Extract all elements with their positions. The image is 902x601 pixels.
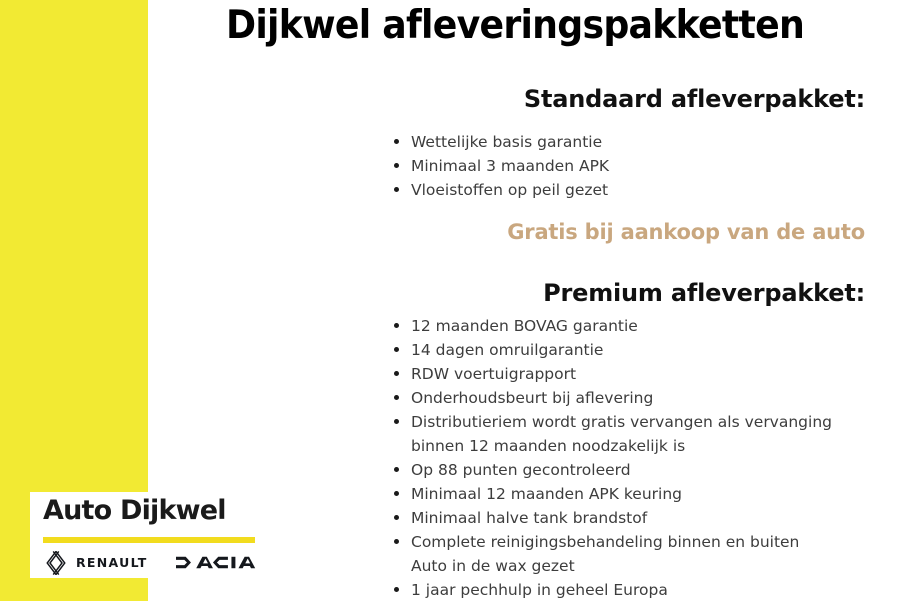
content-column: Dijkwel afleveringspakketten Standaard a… bbox=[165, 0, 865, 601]
standard-package-list: Wettelijke basis garantie Minimaal 3 maa… bbox=[394, 130, 874, 202]
dacia-wordmark bbox=[176, 554, 264, 571]
page-title: Dijkwel afleveringspakketten bbox=[190, 0, 841, 45]
premium-package-heading: Premium afleverpakket: bbox=[543, 279, 865, 307]
list-item: Distributieriem wordt gratis vervangen a… bbox=[394, 410, 874, 458]
renault-diamond-icon bbox=[45, 551, 67, 575]
logo-underline-bar bbox=[43, 537, 255, 543]
dealer-logo-card: Auto Dijkwel RENAULT bbox=[30, 492, 263, 578]
renault-wordmark: RENAULT bbox=[76, 555, 148, 570]
list-item-continuation: Auto in de wax gezet bbox=[411, 554, 874, 578]
dealer-name-wordmark: Auto Dijkwel bbox=[43, 495, 226, 526]
list-item: Minimaal halve tank brandstof bbox=[394, 506, 874, 530]
list-item: 14 dagen omruilgarantie bbox=[394, 338, 874, 362]
list-item: Complete reinigingsbehandeling binnen en… bbox=[394, 530, 874, 578]
list-item: Wettelijke basis garantie bbox=[394, 130, 874, 154]
list-item: Op 88 punten gecontroleerd bbox=[394, 458, 874, 482]
list-item: Minimaal 3 maanden APK bbox=[394, 154, 874, 178]
list-item: Onderhoudsbeurt bij aflevering bbox=[394, 386, 874, 410]
list-item: 1 jaar pechhulp in geheel Europa bbox=[394, 578, 874, 601]
standard-package-heading: Standaard afleverpakket: bbox=[524, 85, 865, 113]
premium-package-list: 12 maanden BOVAG garantie 14 dagen omrui… bbox=[394, 314, 874, 601]
list-item: 12 maanden BOVAG garantie bbox=[394, 314, 874, 338]
list-item: Minimaal 12 maanden APK keuring bbox=[394, 482, 874, 506]
free-with-purchase-tagline: Gratis bij aankoop van de auto bbox=[507, 220, 865, 244]
brand-logos-row: RENAULT bbox=[43, 550, 263, 576]
poster-root: Dijkwel afleveringspakketten Standaard a… bbox=[0, 0, 902, 601]
list-item: Vloeistoffen op peil gezet bbox=[394, 178, 874, 202]
list-item: RDW voertuigrapport bbox=[394, 362, 874, 386]
